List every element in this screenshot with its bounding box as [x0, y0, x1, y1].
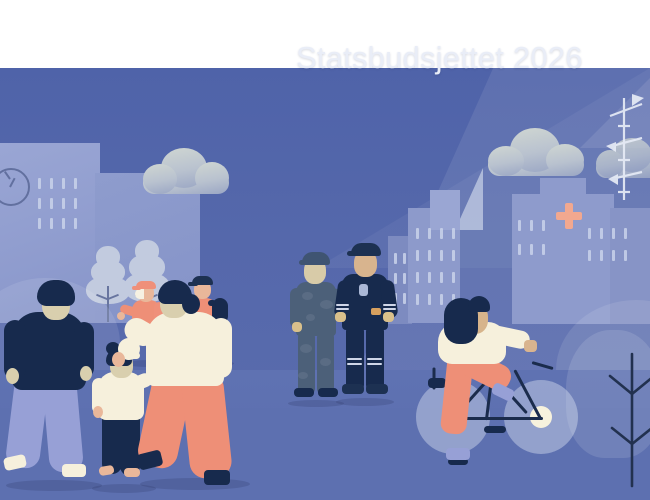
screenshot-root: Statsbudsjettet 2026 [0, 0, 650, 500]
clock-minute-hand [4, 171, 11, 180]
page-title: Statsbudsjettet 2026 [296, 40, 583, 76]
hospital-cross-icon [556, 203, 582, 229]
family-group [0, 278, 260, 500]
city-building-tall-top [430, 190, 460, 230]
illustration-canvas [0, 68, 650, 500]
cloud-large [143, 148, 229, 194]
cloud-center [488, 128, 584, 176]
cyclist [408, 300, 568, 472]
family-adult-right [140, 282, 256, 494]
clock-hour-hand [9, 178, 15, 188]
family-adult-left [4, 278, 104, 493]
weathervane [602, 82, 648, 212]
police-officer-figure [336, 240, 398, 408]
bare-tree-right [604, 336, 650, 496]
hospital-roof-block [540, 178, 586, 200]
